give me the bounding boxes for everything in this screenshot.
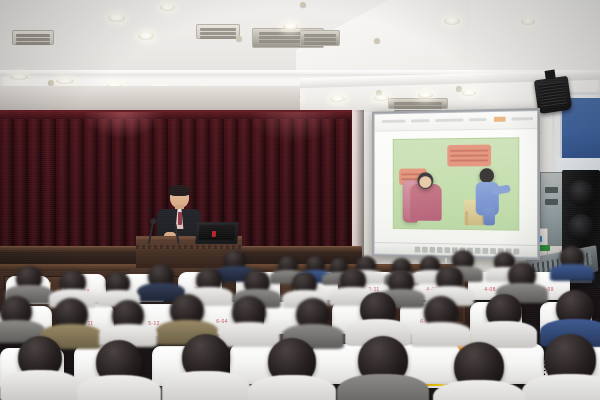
- air-conditioning-vent: [12, 30, 54, 45]
- audience-attendee-head: [148, 264, 174, 288]
- audience-attendee-head: [60, 270, 86, 294]
- cartoon-standing-figure: [394, 138, 519, 140]
- curtain-fold: [350, 110, 364, 262]
- audience-attendee-head: [424, 296, 458, 328]
- audience-attendee-head: [224, 250, 246, 270]
- recessed-downlight: [444, 17, 460, 25]
- audience-attendee-head: [560, 246, 584, 268]
- panel-button-upper[interactable]: [545, 187, 558, 193]
- audience-attendee-head: [556, 290, 594, 326]
- audience-attendee-head: [486, 294, 522, 328]
- recessed-downlight: [418, 92, 433, 98]
- audience-attendee-head: [268, 338, 316, 384]
- presenter-laptop[interactable]: [195, 222, 239, 244]
- audience-attendee-head: [54, 298, 88, 330]
- sprinkler-head: [48, 80, 54, 85]
- audience-attendee-head: [112, 300, 144, 330]
- audience-attendee-head: [196, 268, 222, 292]
- speaker-woofer-upper: [568, 180, 594, 206]
- audience-attendee-head: [436, 266, 463, 291]
- audience-attendee-head: [244, 270, 270, 294]
- speaker-mount-bracket: [545, 70, 556, 80]
- curtain-fold: [42, 110, 56, 262]
- curtain-fold: [28, 110, 42, 262]
- audience-attendee-head: [292, 272, 317, 295]
- audience-attendee-head: [96, 340, 142, 384]
- recessed-downlight: [138, 32, 154, 40]
- audience-area: 3-083-093-103-114-074-084-095-115-126-04…: [0, 248, 600, 400]
- air-conditioning-vent: [300, 30, 340, 46]
- air-conditioning-vent: [388, 98, 448, 109]
- chair-seat-number: 4-08: [484, 287, 496, 293]
- speaker-hair: [169, 185, 190, 196]
- recessed-downlight: [56, 78, 74, 84]
- audience-attendee-head: [358, 336, 408, 384]
- panel-button-lower[interactable]: [545, 199, 558, 205]
- audience-attendee-head: [388, 270, 414, 294]
- audience-attendee-head: [544, 334, 596, 384]
- audience-attendee-head: [360, 292, 396, 326]
- sprinkler-head: [236, 36, 242, 41]
- audience-attendee-head: [278, 256, 298, 274]
- audience-attendee-head: [170, 294, 204, 326]
- speech-bubble-primary: [447, 145, 491, 167]
- recessed-downlight: [283, 23, 298, 30]
- curtain-fold: [0, 110, 14, 262]
- air-conditioning-vent: [196, 24, 240, 39]
- slide-illustration: [393, 137, 520, 230]
- curtain-fold: [14, 110, 28, 262]
- laptop-logo: [212, 231, 216, 237]
- projection-screen: [372, 108, 540, 260]
- recessed-downlight: [374, 95, 389, 101]
- audience-attendee-head: [0, 296, 32, 326]
- recessed-downlight: [330, 96, 345, 102]
- screen-surface: [375, 111, 537, 257]
- curtain-fold: [56, 110, 70, 262]
- audience-attendee-head: [340, 268, 366, 292]
- presentation-ribbon-toolbar[interactable]: [375, 111, 537, 132]
- audience-attendee-head: [508, 262, 536, 288]
- photo-canvas: 3-083-093-103-114-074-084-095-115-126-04…: [0, 0, 600, 400]
- recessed-downlight: [108, 14, 125, 22]
- recessed-downlight: [462, 90, 476, 96]
- speaker-tie: [178, 212, 182, 225]
- speaker-woofer-lower: [568, 214, 594, 240]
- curtain-highlight: [84, 112, 162, 138]
- audience-attendee-head: [182, 334, 230, 380]
- curtain-fold: [70, 110, 84, 262]
- recessed-downlight: [10, 74, 28, 80]
- curtain-highlight-secondary: [250, 112, 340, 142]
- audience-attendee-head: [296, 298, 330, 330]
- audience-attendee-head: [232, 296, 266, 328]
- sprinkler-head: [456, 86, 462, 91]
- cartoon-seated-figure: [394, 138, 519, 140]
- sprinkler-head: [374, 38, 380, 43]
- audience-attendee-head: [306, 256, 325, 273]
- recessed-downlight: [521, 18, 535, 25]
- laptop-screen: [199, 225, 236, 240]
- speaker-grille: [538, 81, 567, 108]
- audience-attendee-head: [16, 266, 42, 290]
- audience-attendee-head: [454, 342, 504, 390]
- recessed-downlight: [160, 4, 175, 11]
- sprinkler-head: [300, 2, 306, 7]
- audience-attendee-head: [106, 272, 130, 294]
- audience-attendee-head: [18, 336, 62, 378]
- chair-seat-number: 6-04: [216, 319, 228, 325]
